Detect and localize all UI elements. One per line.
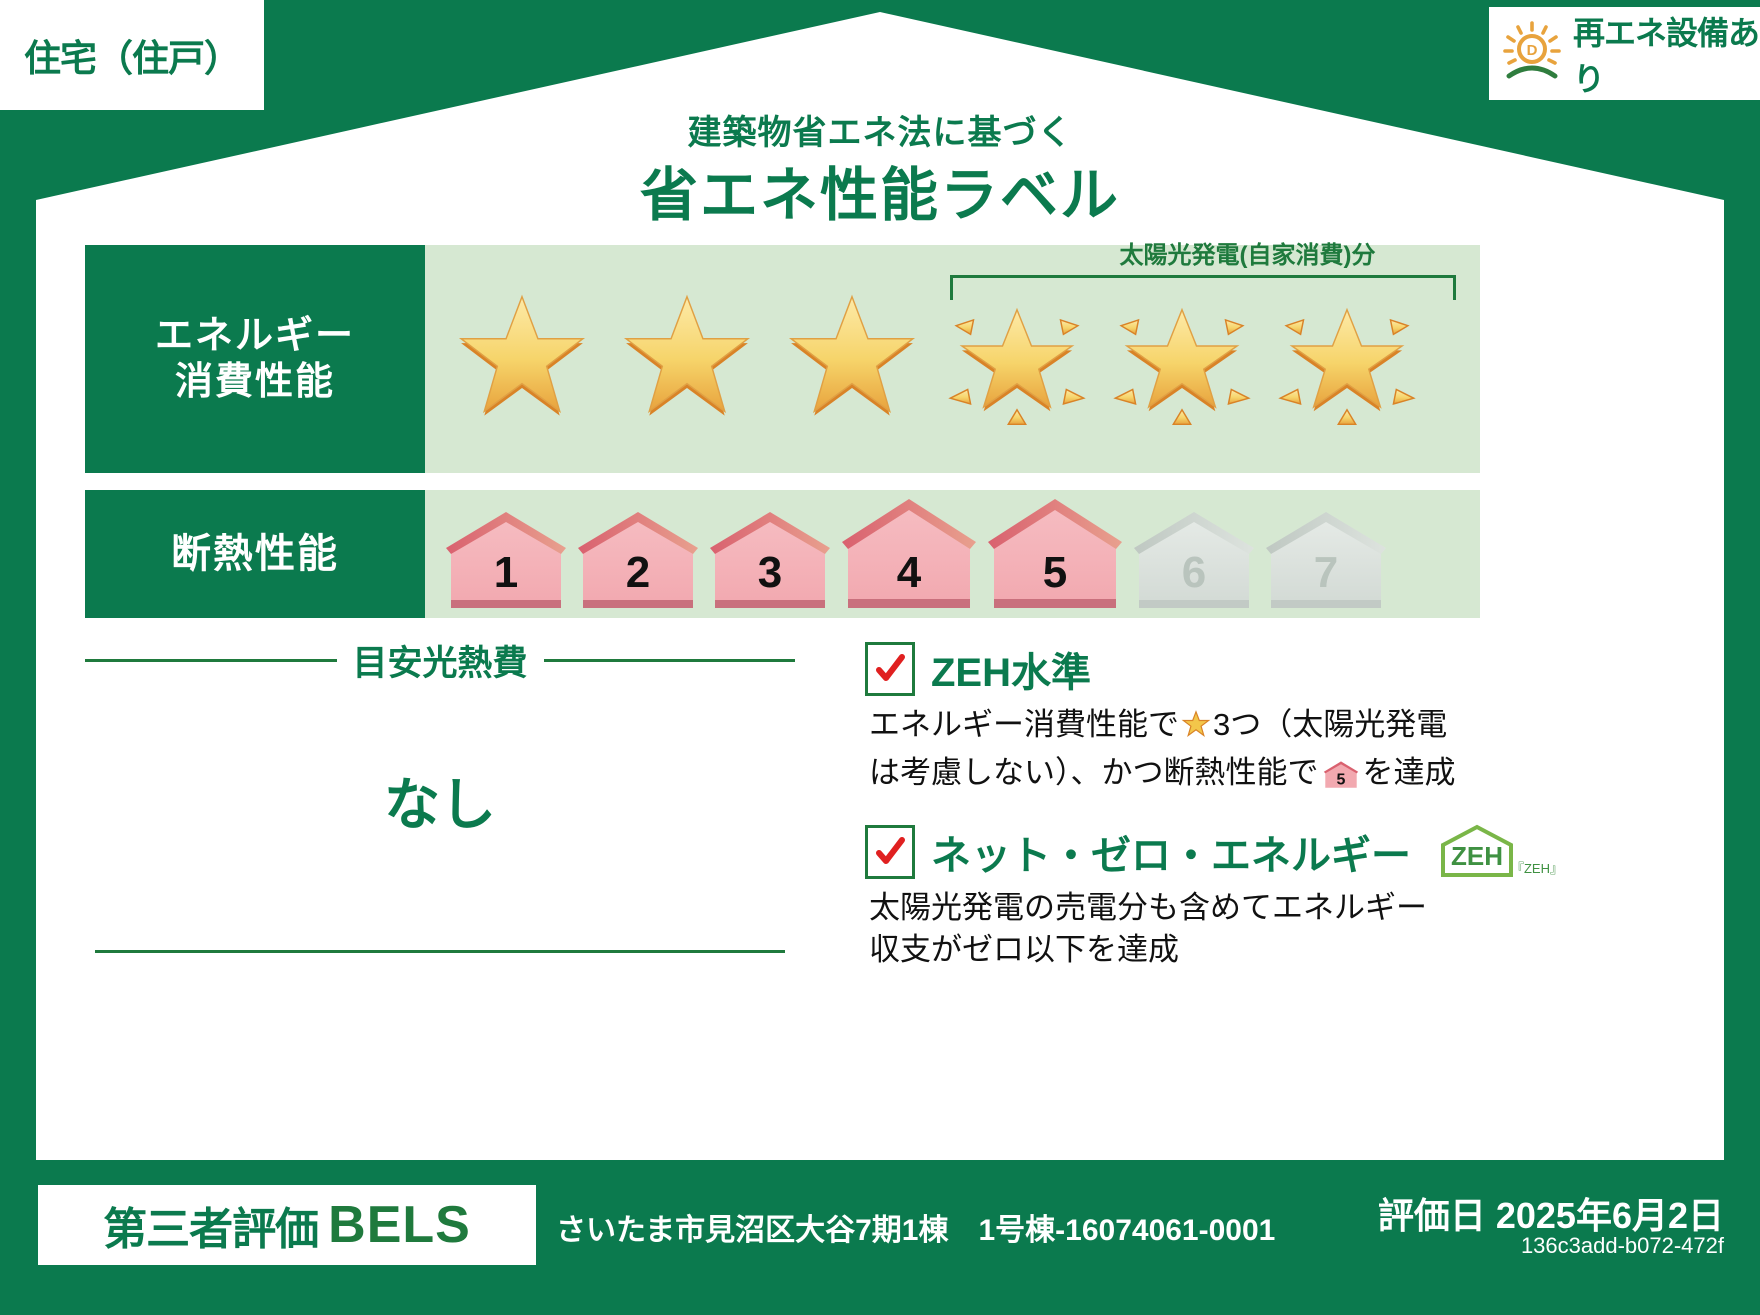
solar-sun-icon: D	[1499, 18, 1565, 89]
solar-bracket-label: 太陽光発電(自家消費)分	[1015, 235, 1480, 270]
category-badge-label: 住宅（住戸）	[24, 28, 240, 82]
net-zero-desc-line1: 太陽光発電の売電分も含めてエネルギー	[869, 890, 1427, 925]
insulation-level-3: 3	[707, 504, 833, 608]
zeh-standard-row: ZEH水準	[865, 640, 1485, 698]
energy-performance-label: エネルギー 消費性能	[85, 245, 425, 473]
net-zero-desc-line2: 収支がゼロ以下を達成	[869, 932, 1179, 967]
insulation-level-1: 1	[443, 504, 569, 608]
zeh-logo-icon: ZEH 『ZEH』	[1437, 823, 1561, 881]
title-subtitle: 建築物省エネ法に基づく	[0, 105, 1760, 154]
net-zero-energy-row: ネット・ゼロ・エネルギー ZEH 『ZEH』	[865, 823, 1485, 881]
svg-text:5: 5	[1336, 771, 1345, 788]
zeh-desc-part2: は考慮しない）、かつ断熱性能で	[869, 755, 1319, 790]
inline-star-icon	[1181, 709, 1211, 752]
check-icon	[874, 653, 906, 685]
zeh-section: ZEH水準 エネルギー消費性能で3つ（太陽光発電 は考慮しない）、かつ断熱性能で…	[865, 640, 1485, 992]
zeh-desc-part1: エネルギー消費性能で	[869, 707, 1179, 742]
zeh-standard-label: ZEH水準	[931, 640, 1091, 698]
svg-text:ZEH: ZEH	[1451, 841, 1503, 871]
cost-rule-bottom	[95, 950, 785, 953]
page-title: 省エネ性能ラベル	[0, 148, 1760, 232]
energy-star-6-solar	[1264, 285, 1429, 435]
insulation-level-2-number: 2	[575, 548, 701, 598]
zeh-standard-description: エネルギー消費性能で3つ（太陽光発電 は考慮しない）、かつ断熱性能で5を達成	[869, 704, 1485, 803]
energy-star-1	[439, 285, 604, 435]
energy-star-4-solar	[934, 285, 1099, 435]
energy-performance-body: 太陽光発電(自家消費)分	[425, 245, 1480, 473]
renewable-equipment-badge: D 再エネ設備あり	[1489, 7, 1760, 100]
property-address: さいたま市見沼区大谷7期1棟 1号棟-16074061-0001	[556, 1205, 1275, 1249]
bels-energy-label: 住宅（住戸） D 再エネ設備あり	[0, 0, 1760, 1315]
insulation-level-3-number: 3	[707, 548, 833, 598]
renewable-badge-label: 再エネ設備あり	[1573, 8, 1760, 100]
zeh-standard-checkbox[interactable]	[865, 642, 915, 696]
energy-star-5-solar	[1099, 285, 1264, 435]
estimated-utility-cost-value: なし	[85, 760, 795, 841]
net-zero-energy-description: 太陽光発電の売電分も含めてエネルギー 収支がゼロ以下を達成	[869, 887, 1485, 973]
insulation-performance-label: 断熱性能	[85, 490, 425, 618]
energy-label-line1: エネルギー	[155, 313, 355, 359]
evaluation-date: 評価日 2025年6月2日	[1378, 1187, 1724, 1239]
insulation-level-4-number: 4	[839, 548, 979, 598]
net-zero-energy-checkbox[interactable]	[865, 825, 915, 879]
bels-certification-badge: 第三者評価 BELS	[38, 1185, 536, 1265]
insulation-house-group: 1 2 3	[443, 492, 1395, 608]
footer: 第三者評価 BELS さいたま市見沼区大谷7期1棟 1号棟-16074061-0…	[0, 1175, 1760, 1315]
insulation-level-5-number: 5	[985, 548, 1125, 598]
bels-en-label: BELS	[328, 1195, 471, 1255]
insulation-label-text: 断熱性能	[171, 530, 339, 579]
zeh-desc-part3: を達成	[1363, 755, 1456, 790]
insulation-level-5: 5	[985, 492, 1125, 608]
insulation-level-6: 6	[1131, 504, 1257, 608]
insulation-level-7-number: 7	[1263, 548, 1389, 598]
net-zero-energy-label: ネット・ゼロ・エネルギー	[931, 823, 1411, 881]
inline-house-icon: 5	[1323, 757, 1359, 803]
energy-performance-row: エネルギー 消費性能 太陽光発電(自家消費)分	[85, 245, 1480, 473]
bels-jp-label: 第三者評価	[103, 1193, 318, 1257]
energy-star-group	[439, 285, 1429, 435]
svg-text:D: D	[1527, 42, 1538, 59]
cost-rule-left	[85, 659, 337, 662]
insulation-level-6-number: 6	[1131, 548, 1257, 598]
estimated-utility-cost-header: 目安光熱費	[85, 640, 795, 680]
certificate-uid: 136c3add-b072-472f	[1521, 1233, 1724, 1259]
insulation-level-7: 7	[1263, 504, 1389, 608]
estimated-utility-cost-title: 目安光熱費	[337, 635, 544, 686]
insulation-level-4: 4	[839, 492, 979, 608]
svg-text:『ZEH』: 『ZEH』	[1511, 861, 1561, 876]
insulation-performance-row: 断熱性能	[85, 490, 1480, 618]
check-icon	[874, 836, 906, 868]
insulation-level-1-number: 1	[443, 548, 569, 598]
insulation-performance-body: 1 2 3	[425, 490, 1480, 618]
energy-label-line2: 消費性能	[175, 359, 335, 405]
energy-star-3	[769, 285, 934, 435]
cost-rule-right	[544, 659, 796, 662]
insulation-level-2: 2	[575, 504, 701, 608]
energy-star-2	[604, 285, 769, 435]
zeh-desc-star-count: 3つ（太陽光発電	[1213, 707, 1447, 742]
category-badge: 住宅（住戸）	[0, 0, 264, 110]
